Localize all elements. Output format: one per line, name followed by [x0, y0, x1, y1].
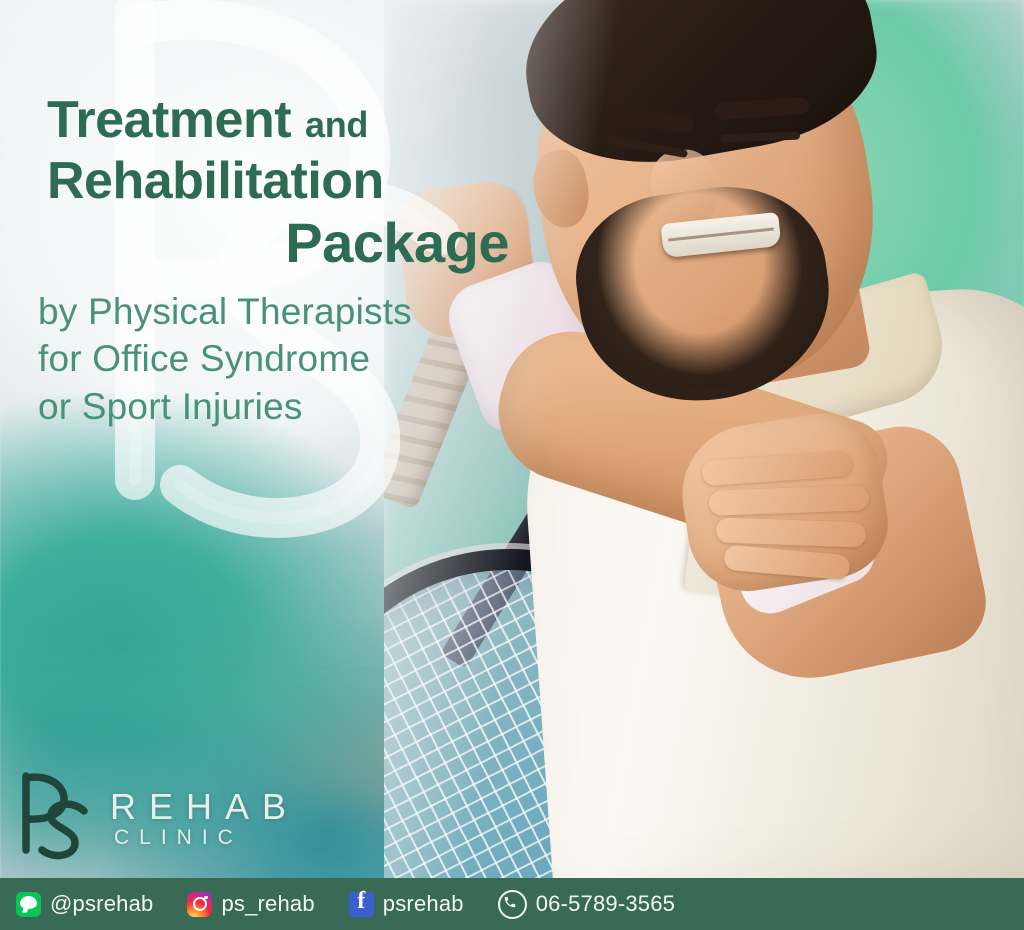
subheadline-line-3: or Sport Injuries — [38, 383, 412, 430]
contact-phone-label: 06-5789-3565 — [536, 891, 675, 917]
contact-facebook[interactable]: psrehab — [349, 891, 464, 917]
contact-line[interactable]: @psrehab — [16, 891, 153, 917]
headline-line-2: Rehabilitation — [47, 155, 517, 208]
phone-icon — [498, 890, 527, 919]
subheadline-line-2: for Office Syndrome — [38, 335, 412, 382]
headline-word-and: and — [305, 104, 368, 145]
headline-word-treatment: Treatment — [47, 91, 291, 149]
clinic-logo: REHAB CLINIC — [14, 770, 299, 868]
line-icon — [16, 892, 41, 917]
contact-line-label: @psrehab — [50, 891, 153, 917]
headline-block: Treatment and Rehabilitation Package — [47, 94, 517, 271]
subheadline-line-1: by Physical Therapists — [38, 288, 412, 335]
contact-facebook-label: psrehab — [383, 891, 464, 917]
instagram-icon — [187, 892, 212, 917]
facebook-icon — [349, 892, 374, 917]
contact-instagram-label: ps_rehab — [221, 891, 314, 917]
contact-bar: @psrehab ps_rehab psrehab 06-5789-3565 — [0, 878, 1024, 930]
contact-instagram[interactable]: ps_rehab — [187, 891, 314, 917]
logo-subname: CLINIC — [110, 826, 299, 850]
logo-wordmark: REHAB CLINIC — [110, 788, 299, 850]
subheadline-block: by Physical Therapists for Office Syndro… — [38, 288, 412, 430]
headline-line-1: Treatment and — [47, 94, 517, 147]
contact-phone[interactable]: 06-5789-3565 — [498, 890, 675, 919]
headline-line-3: Package — [47, 214, 517, 271]
promotional-poster: Treatment and Rehabilitation Package by … — [0, 0, 1024, 930]
ps-monogram-icon — [14, 770, 96, 868]
logo-name: REHAB — [110, 788, 299, 826]
